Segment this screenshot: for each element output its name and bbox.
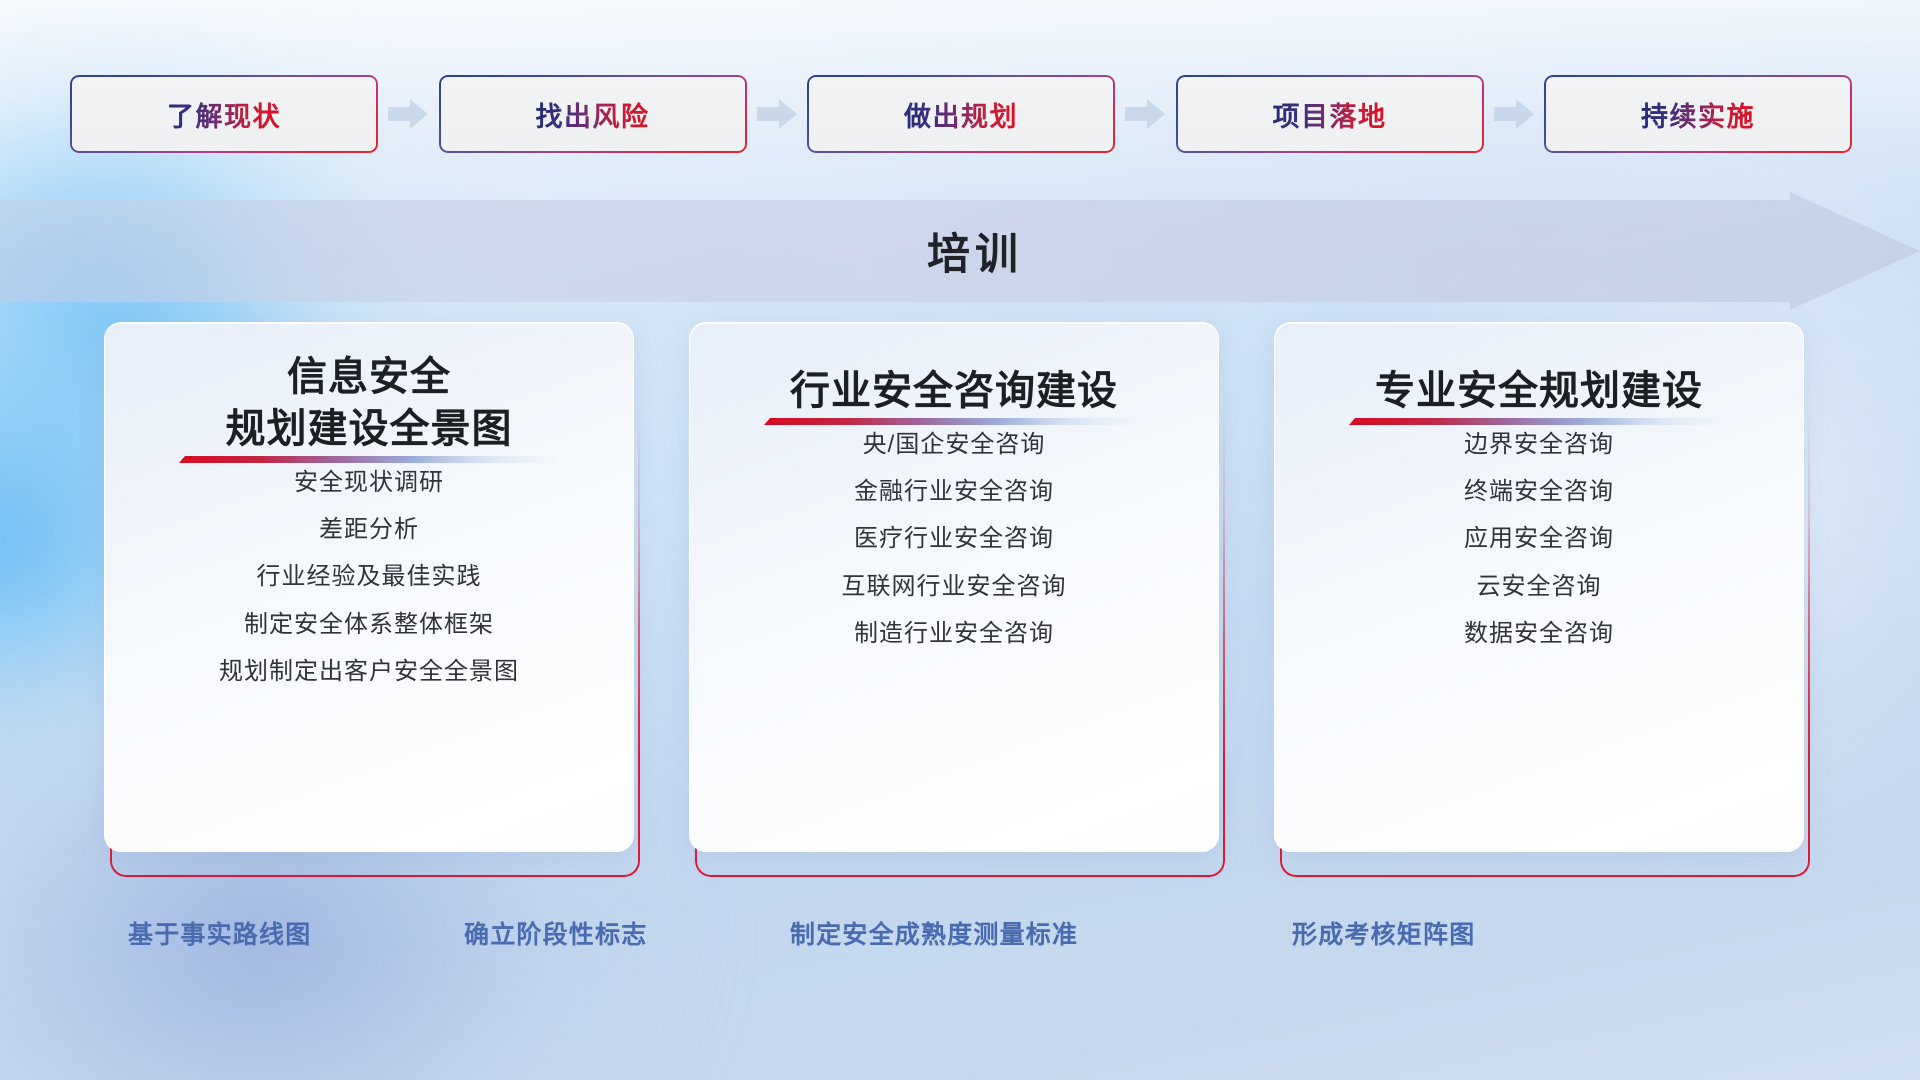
card-title-3: 专业安全规划建设: [1275, 365, 1803, 417]
card-title-line: 规划建设全景图: [105, 403, 633, 455]
list-item: 差距分析: [319, 511, 419, 548]
list-item: 规划制定出客户安全全景图: [219, 653, 519, 690]
list-item: 数据安全咨询: [1464, 615, 1614, 652]
step-label-4: 项目落地: [1273, 95, 1387, 134]
card-1[interactable]: 信息安全 规划建设全景图: [104, 322, 634, 852]
training-banner: 培训: [0, 192, 1920, 310]
list-item: 互联网行业安全咨询: [842, 568, 1067, 605]
list-item: 应用安全咨询: [1464, 520, 1614, 557]
list-item: 制造行业安全咨询: [854, 615, 1054, 652]
card-wrapper-1: 信息安全 规划建设全景图: [110, 332, 640, 877]
card-list-3: 边界安全咨询 终端安全咨询 应用安全咨询 云安全咨询 数据安全咨询: [1275, 426, 1803, 686]
card-list-1: 安全现状调研 差距分析 行业经验及最佳实践 制定安全体系整体框架 规划制定出客户…: [105, 464, 633, 724]
card-wrapper-2: 行业安全咨询建设: [695, 332, 1225, 877]
card-row: 信息安全 规划建设全景图: [110, 332, 1810, 877]
card-divider-3: [1349, 417, 1729, 426]
card-title-line: 信息安全: [105, 351, 633, 403]
step-box-2[interactable]: 找出风险: [439, 75, 747, 153]
step-box-3[interactable]: 做出规划: [807, 75, 1115, 153]
card-3[interactable]: 专业安全规划建设: [1274, 322, 1804, 852]
list-item: 医疗行业安全咨询: [854, 520, 1054, 557]
banner-title: 培训: [0, 192, 1920, 310]
footer-label-2: 确立阶段性标志: [464, 915, 647, 951]
arrow-right-icon: [1125, 97, 1165, 131]
arrow-right-icon: [388, 97, 428, 131]
list-item: 金融行业安全咨询: [854, 473, 1054, 510]
step-label-5: 持续实施: [1641, 95, 1755, 134]
card-title-line: 专业安全规划建设: [1275, 365, 1803, 417]
footer-label-4: 形成考核矩阵图: [1292, 915, 1475, 951]
list-item: 安全现状调研: [294, 464, 444, 501]
step-label-2: 找出风险: [536, 95, 650, 134]
card-divider-1: [179, 455, 559, 464]
list-item: 央/国企安全咨询: [863, 426, 1046, 463]
card-title-line: 行业安全咨询建设: [690, 365, 1218, 417]
card-2[interactable]: 行业安全咨询建设: [689, 322, 1219, 852]
card-divider-holder-3: [1275, 417, 1803, 426]
footer-label-1: 基于事实路线图: [128, 915, 311, 951]
list-item: 行业经验及最佳实践: [257, 558, 482, 595]
card-list-2: 央/国企安全咨询 金融行业安全咨询 医疗行业安全咨询 互联网行业安全咨询 制造行…: [690, 426, 1218, 686]
footer-label-3: 制定安全成熟度测量标准: [790, 915, 1078, 951]
list-item: 制定安全体系整体框架: [244, 606, 494, 643]
step-label-1: 了解现状: [167, 95, 281, 134]
step-box-4[interactable]: 项目落地: [1176, 75, 1484, 153]
list-item: 边界安全咨询: [1464, 426, 1614, 463]
card-wrapper-3: 专业安全规划建设: [1280, 332, 1810, 877]
card-title-1: 信息安全 规划建设全景图: [105, 351, 633, 455]
footer-labels: 基于事实路线图 确立阶段性标志 制定安全成熟度测量标准 形成考核矩阵图: [0, 915, 1920, 971]
process-steps: 了解现状 找出风险 做出规划 项目落地 持续实施: [70, 75, 1852, 153]
step-box-1[interactable]: 了解现状: [70, 75, 378, 153]
arrow-right-icon: [757, 97, 797, 131]
card-divider-2: [764, 417, 1144, 426]
list-item: 云安全咨询: [1477, 568, 1602, 605]
card-divider-holder-1: [105, 455, 633, 464]
step-label-3: 做出规划: [904, 95, 1018, 134]
card-divider-holder-2: [690, 417, 1218, 426]
step-box-5[interactable]: 持续实施: [1544, 75, 1852, 153]
card-title-2: 行业安全咨询建设: [690, 365, 1218, 417]
arrow-right-icon: [1494, 97, 1534, 131]
list-item: 终端安全咨询: [1464, 473, 1614, 510]
